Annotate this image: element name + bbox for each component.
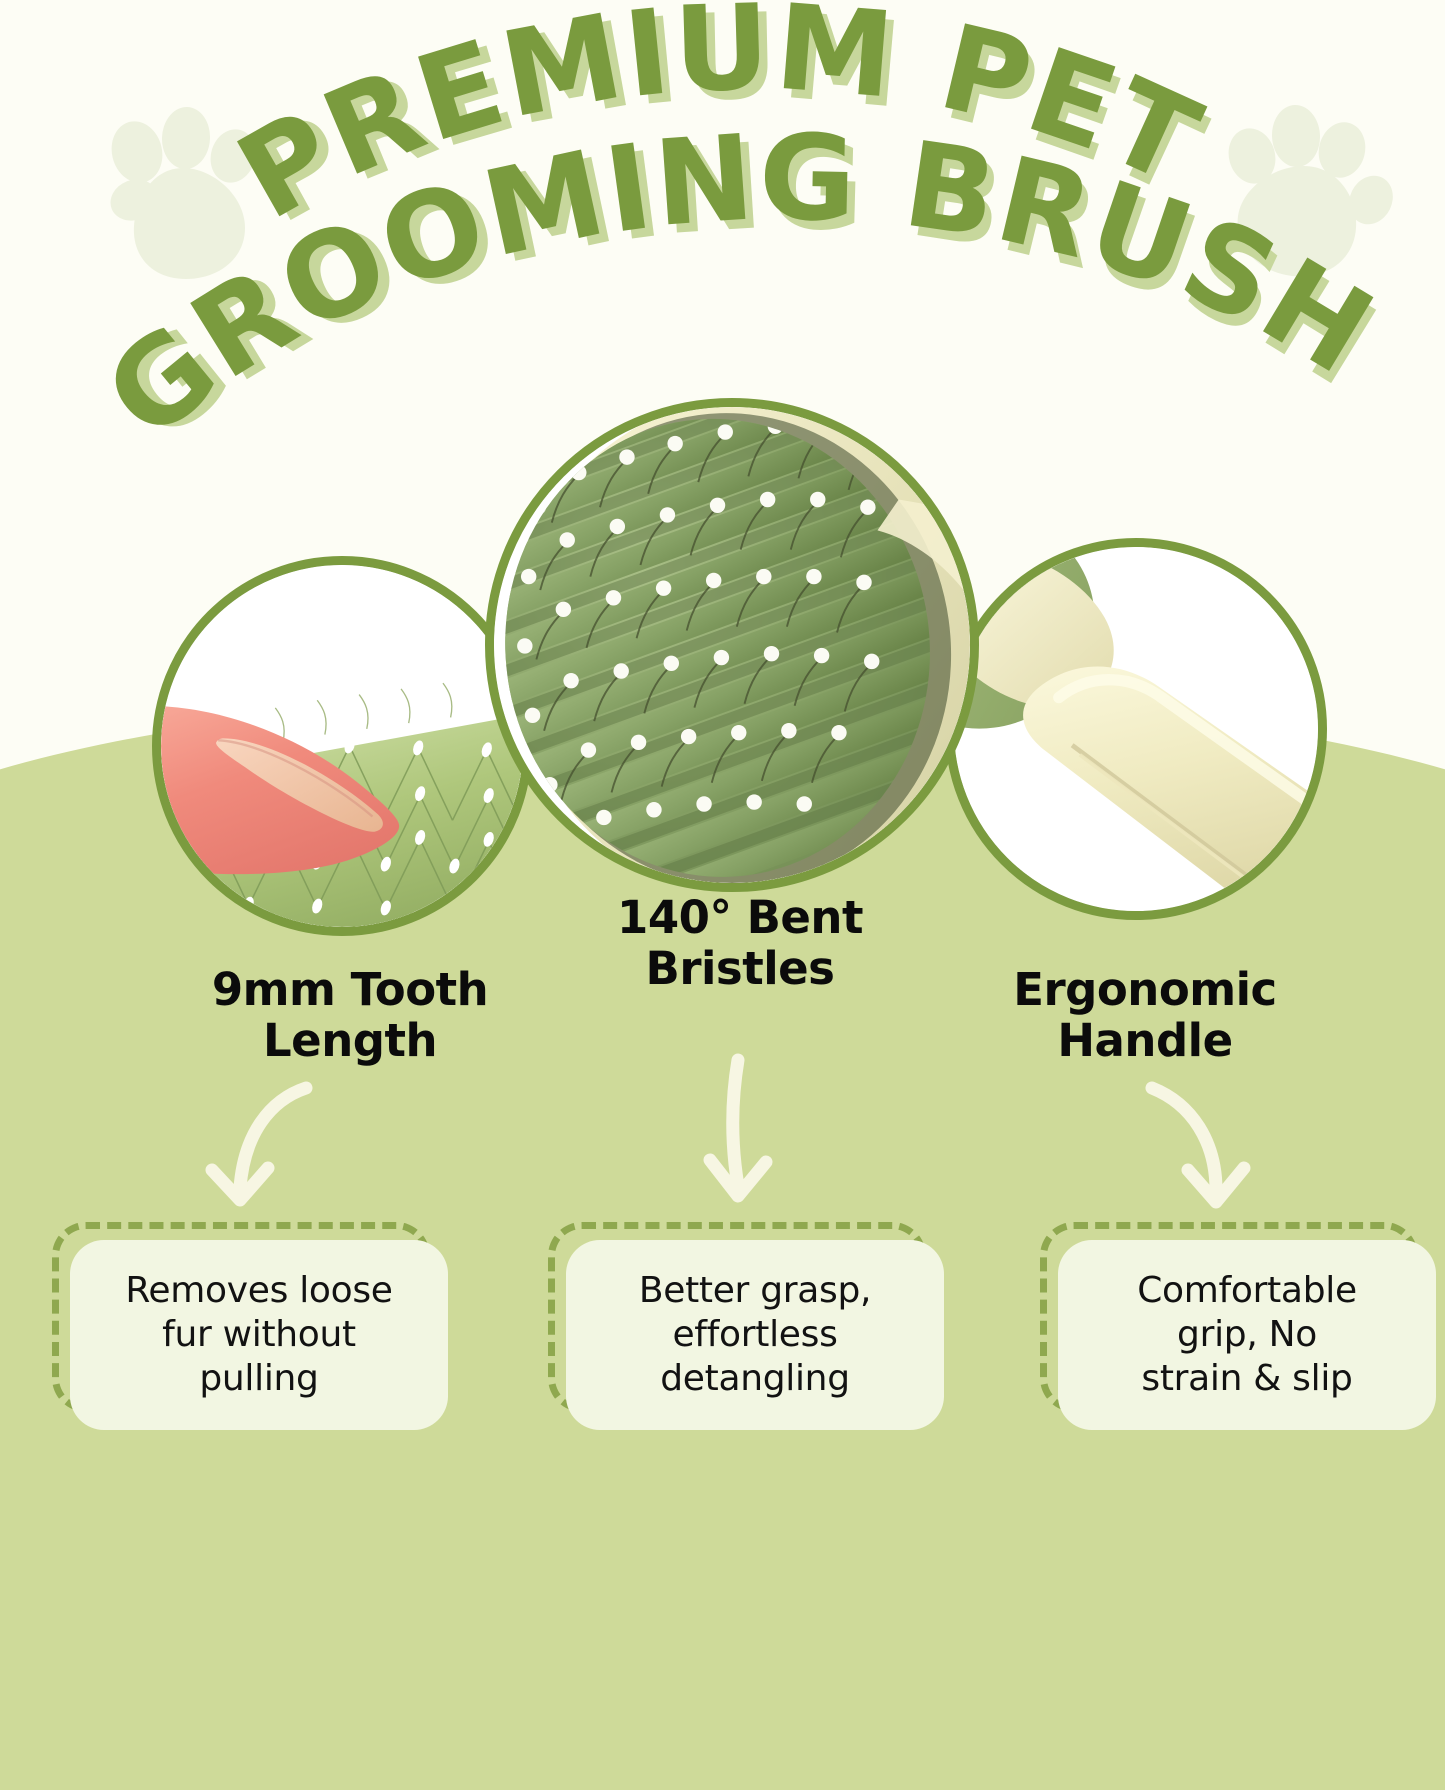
- page-title: PREMIUM PET PREMIUM PET GROOMING BRUSH G…: [0, 0, 1445, 430]
- caption-fill: Removes loose fur without pulling: [70, 1240, 448, 1430]
- caption-fill: Better grasp, effortless detangling: [566, 1240, 944, 1430]
- feature-label-ergonomic-handle-line1: Ergonomic: [955, 965, 1335, 1016]
- feature-label-bent-bristles-line2: Bristles: [545, 944, 935, 995]
- caption-box-ergonomic-handle: Comfortable grip, No strain & slip: [1040, 1222, 1418, 1412]
- caption-text-ergonomic-handle: Comfortable grip, No strain & slip: [1137, 1269, 1357, 1401]
- curved-arrow-down-right-icon: [1130, 1076, 1305, 1226]
- feature-label-ergonomic-handle-line2: Handle: [955, 1016, 1335, 1067]
- feature-image-ergonomic-handle: [945, 538, 1327, 920]
- feature-image-tooth-length-photo: [161, 565, 523, 927]
- caption-fill: Comfortable grip, No strain & slip: [1058, 1240, 1436, 1430]
- caption-text-tooth-length: Removes loose fur without pulling: [125, 1269, 392, 1401]
- feature-image-bent-bristles-photo: [494, 407, 970, 883]
- feature-image-tooth-length: [152, 556, 532, 936]
- feature-image-bent-bristles: [485, 398, 979, 892]
- infographic-canvas: PREMIUM PET PREMIUM PET GROOMING BRUSH G…: [0, 0, 1445, 1445]
- feature-label-bent-bristles: 140° Bent Bristles: [545, 893, 935, 995]
- curved-arrow-down-left-icon: [178, 1076, 348, 1226]
- feature-image-ergonomic-handle-photo: [954, 547, 1318, 911]
- caption-box-bent-bristles: Better grasp, effortless detangling: [548, 1222, 926, 1412]
- feature-label-bent-bristles-line1: 140° Bent: [545, 893, 935, 944]
- feature-label-ergonomic-handle: Ergonomic Handle: [955, 965, 1335, 1067]
- feature-label-tooth-length: 9mm Tooth Length: [150, 965, 550, 1067]
- caption-box-tooth-length: Removes loose fur without pulling: [52, 1222, 430, 1412]
- feature-label-tooth-length-line2: Length: [150, 1016, 550, 1067]
- feature-label-tooth-length-line1: 9mm Tooth: [150, 965, 550, 1016]
- caption-text-bent-bristles: Better grasp, effortless detangling: [639, 1269, 871, 1401]
- curved-arrow-down-icon: [682, 1052, 832, 1224]
